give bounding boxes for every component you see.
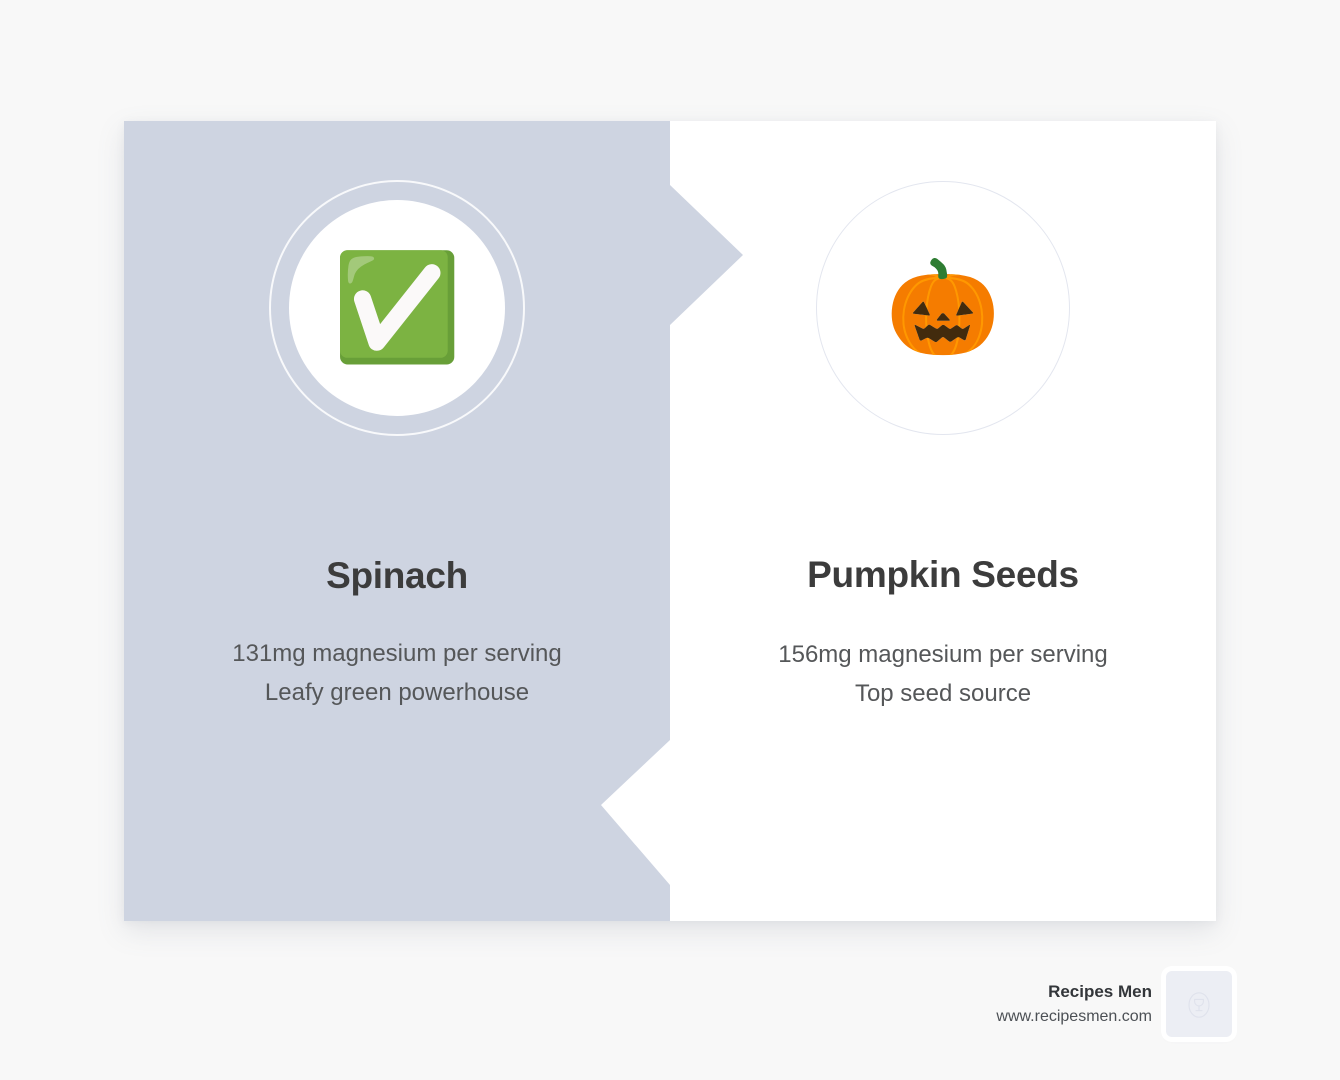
pumpkin-seeds-description: 156mg magnesium per serving Top seed sou…	[670, 636, 1216, 714]
brand-name: Recipes Men	[996, 980, 1152, 1005]
pumpkin-seeds-description-line-2: Top seed source	[670, 675, 1216, 714]
brand-url[interactable]: www.recipesmen.com	[996, 1005, 1152, 1028]
pumpkin-seeds-icon-medallion: 🎃	[816, 181, 1070, 435]
comparison-item-spinach[interactable]: ✅ Spinach 131mg magnesium per serving Le…	[124, 121, 670, 921]
spinach-description-line-2: Leafy green powerhouse	[124, 674, 670, 713]
pumpkin-seeds-title: Pumpkin Seeds	[670, 554, 1216, 596]
pumpkin-seeds-description-line-1: 156mg magnesium per serving	[670, 636, 1216, 675]
spinach-description-line-1: 131mg magnesium per serving	[124, 635, 670, 674]
comparison-item-pumpkin-seeds[interactable]: 🎃 Pumpkin Seeds 156mg magnesium per serv…	[670, 121, 1216, 921]
white-heavy-check-mark-icon: ✅	[332, 256, 462, 360]
brand-text-block: Recipes Men www.recipesmen.com	[996, 980, 1152, 1028]
footer-brand: Recipes Men www.recipesmen.com	[940, 966, 1232, 1042]
recipes-men-logo-icon	[1166, 971, 1232, 1037]
comparison-card: ✅ Spinach 131mg magnesium per serving Le…	[124, 121, 1216, 921]
spinach-icon-medallion: ✅	[269, 180, 525, 436]
spinach-description: 131mg magnesium per serving Leafy green …	[124, 635, 670, 713]
jack-o-lantern-icon: 🎃	[886, 262, 1001, 354]
screenshot-stage: ✅ Spinach 131mg magnesium per serving Le…	[0, 0, 1340, 1080]
spinach-title: Spinach	[124, 555, 670, 597]
